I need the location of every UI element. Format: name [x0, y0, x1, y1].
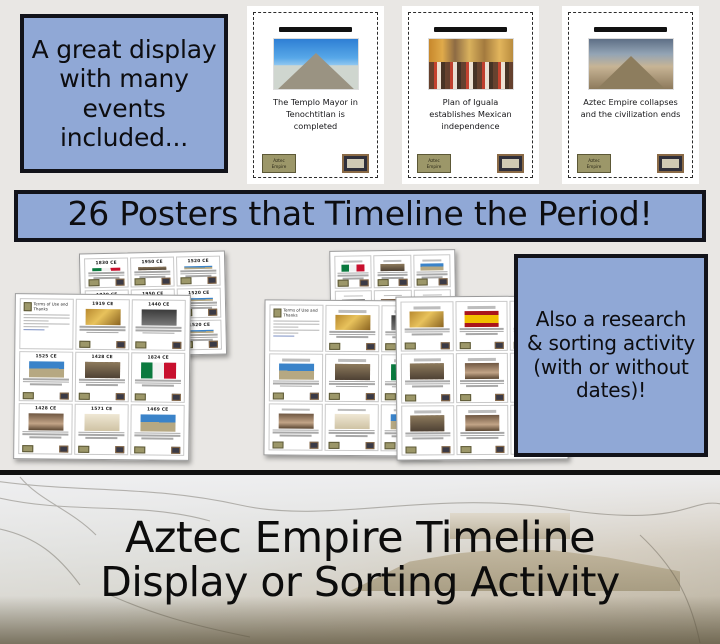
cell-image: [84, 414, 119, 431]
cell-footer: [180, 277, 217, 285]
cell-footer: [22, 445, 68, 452]
cell-image: [138, 267, 166, 271]
title-line-2: Display or Sorting Activity: [100, 562, 619, 603]
product-cover: A great display with many events include…: [0, 0, 720, 639]
cell-footer: [338, 279, 369, 286]
cell-caption-lines: [22, 431, 68, 438]
sheet-cell: 1520 CE: [176, 256, 221, 287]
cell-image: [85, 309, 120, 326]
cell-caption-lines: [459, 328, 504, 335]
sheet-cell: 1440 CE: [131, 299, 186, 350]
cell-caption-lines: [23, 378, 69, 385]
cell-date-blank: [338, 310, 366, 313]
date-redaction-bar: [434, 27, 507, 32]
sheet-cell: [401, 353, 454, 403]
cell-date-blank: [469, 410, 496, 413]
cell-image: [28, 414, 63, 431]
badge-line-2: Empire: [272, 164, 287, 169]
cell-image: [464, 311, 498, 327]
sheet-cell: [374, 255, 412, 288]
cell-footer: [78, 446, 124, 453]
cell-date: 1440 CE: [148, 302, 169, 308]
cell-caption-lines: [405, 432, 450, 439]
cell-footer: [88, 279, 125, 287]
cell-caption-lines: [78, 432, 124, 439]
cell-badge: [135, 394, 146, 401]
cell-badge: [417, 278, 428, 285]
sheet-cell: [325, 305, 379, 353]
poster-caption: The Templo Mayor in Tenochtitlan is comp…: [262, 97, 369, 133]
sheet-cell: 1525 CE: [19, 351, 74, 402]
tou-body: [23, 314, 69, 331]
terms-of-use-cell: Terms of Use and Thanks: [19, 298, 74, 349]
tou-title: Terms of Use and Thanks: [283, 309, 319, 318]
badge-line-2: Empire: [427, 164, 442, 169]
sheet-dated-front: Terms of Use and Thanks1919 CE1440 CE152…: [13, 293, 191, 461]
title-line-1: Aztec Empire Timeline: [125, 517, 595, 560]
cell-date: 1830 CE: [95, 261, 116, 267]
poster-caption: Aztec Empire collapses and the civilizat…: [577, 97, 684, 121]
cell-footer: [329, 392, 375, 399]
cell-footer: [460, 394, 505, 401]
cell-badge: [22, 445, 33, 452]
cell-footer: [460, 446, 505, 453]
cell-mini-thumb: [115, 446, 124, 453]
cell-caption-lines: [135, 327, 181, 334]
top-row: A great display with many events include…: [0, 0, 720, 186]
cell-date-blank: [413, 306, 440, 309]
cell-footer: [377, 278, 408, 285]
date-redaction-bar: [279, 27, 352, 32]
cell-footer: [405, 342, 450, 349]
sheet-cell: 1469 CE: [130, 405, 185, 456]
cell-badge: [385, 344, 396, 351]
cell-footer: [405, 446, 450, 453]
sheet-cell: [401, 405, 454, 455]
cell-date-blank: [344, 260, 363, 262]
cell-image: [141, 309, 176, 326]
cell-image: [411, 415, 445, 431]
cell-image: [28, 361, 63, 378]
sheet-cell: [268, 403, 322, 451]
sheet-cell: [400, 301, 453, 351]
cell-image: [84, 361, 119, 378]
cell-badge: [88, 279, 99, 286]
sheet-cell: 1428 CE: [18, 403, 73, 454]
sheet-cell: 1824 CE: [131, 352, 186, 403]
cell-mini-thumb: [116, 341, 125, 348]
cell-date: 1428 CE: [91, 355, 112, 361]
cell-badge: [460, 394, 471, 401]
cell-caption-lines: [405, 380, 450, 387]
cell-mini-thumb: [496, 446, 505, 453]
cell-date: 1950 CE: [141, 260, 162, 266]
cell-image: [420, 263, 443, 270]
poster-card-3: Aztec Empire collapses and the civilizat…: [562, 6, 699, 184]
cell-footer: [273, 441, 319, 448]
cell-image: [335, 315, 370, 330]
sheet-cell: [325, 354, 379, 402]
sheet-cell: 1830 CE: [84, 258, 129, 289]
aztec-empire-badge: Aztec Empire: [577, 154, 611, 173]
title-banner: Aztec Empire Timeline Display or Sorting…: [0, 470, 720, 644]
cell-mini-thumb: [441, 446, 450, 453]
cell-mini-thumb: [116, 393, 125, 400]
cell-mini-thumb: [440, 342, 449, 349]
tou-badge-icon: [24, 302, 32, 311]
cell-date-blank: [344, 295, 363, 297]
cell-badge: [385, 442, 396, 449]
cell-badge: [329, 343, 340, 350]
cell-date-blank: [282, 408, 310, 411]
cell-date: 1919 CE: [92, 302, 113, 308]
cell-mini-thumb: [209, 309, 218, 316]
poster-caption: Plan of Iguala establishes Mexican indep…: [417, 97, 524, 133]
cell-badge: [338, 279, 349, 286]
cell-caption-lines: [460, 432, 505, 439]
cell-caption-lines: [135, 379, 181, 386]
cell-date-blank: [338, 359, 366, 362]
cell-image: [92, 268, 120, 272]
cell-caption-lines: [134, 432, 180, 439]
cell-badge: [23, 392, 34, 399]
mini-thumbnail-icon: [342, 154, 369, 173]
callout-also-research: Also a research & sorting activity (with…: [514, 254, 708, 457]
cell-caption-lines: [329, 380, 375, 387]
cell-badge: [79, 393, 90, 400]
cell-caption-lines: [329, 430, 375, 437]
cell-image: [465, 415, 499, 431]
sheet-cell: [269, 354, 323, 402]
poster-image-parade: [428, 38, 514, 90]
cell-mini-thumb: [172, 394, 181, 401]
cell-footer: [79, 393, 125, 400]
cell-date-blank: [282, 359, 310, 362]
cell-mini-thumb: [116, 279, 125, 286]
cell-image: [140, 362, 175, 379]
cell-mini-thumb: [60, 393, 69, 400]
poster-footer: Aztec Empire: [577, 154, 684, 173]
cell-date-blank: [468, 306, 495, 309]
cell-date-blank: [422, 259, 441, 261]
cell-badge: [385, 393, 396, 400]
cell-date-blank: [383, 260, 402, 262]
cell-date-blank: [414, 410, 441, 413]
poster-card-1: The Templo Mayor in Tenochtitlan is comp…: [247, 6, 384, 184]
cell-badge: [273, 392, 284, 399]
cell-mini-thumb: [441, 394, 450, 401]
cell-mini-thumb: [172, 341, 181, 348]
cell-footer: [273, 392, 319, 399]
sheet-cell: [455, 301, 508, 351]
cell-date-blank: [414, 358, 441, 361]
cell-caption-lines: [273, 380, 319, 387]
aztec-empire-badge: Aztec Empire: [262, 154, 296, 173]
cell-caption-lines: [460, 380, 505, 387]
cell-badge: [405, 446, 416, 453]
date-redaction-bar: [594, 27, 667, 32]
cell-mini-thumb: [310, 442, 319, 449]
cell-footer: [134, 446, 180, 453]
cell-mini-thumb: [399, 278, 408, 285]
sheet-cell: [413, 254, 451, 287]
cell-date: 1571 CE: [91, 407, 112, 413]
cell-image: [278, 364, 313, 379]
cell-footer: [135, 394, 181, 401]
cell-mini-thumb: [162, 278, 171, 285]
tou-body: [273, 320, 319, 337]
cell-date-blank: [468, 358, 495, 361]
cell-mini-thumb: [310, 392, 319, 399]
cell-footer: [134, 278, 171, 286]
callout-great-display: A great display with many events include…: [20, 14, 228, 173]
sheet-cell: [324, 403, 378, 451]
tou-title: Terms of Use and Thanks: [33, 302, 69, 311]
cell-date: 1428 CE: [35, 407, 56, 413]
cell-caption-lines: [79, 379, 125, 386]
cell-image: [465, 363, 499, 379]
poster-footer: Aztec Empire: [417, 154, 524, 173]
cell-date: 1520 CE: [188, 291, 209, 297]
cell-footer: [135, 341, 181, 348]
cell-badge: [135, 341, 146, 348]
cell-image: [410, 363, 444, 379]
cell-footer: [329, 343, 375, 350]
cell-date: 1520 CE: [187, 259, 208, 265]
cell-badge: [377, 279, 388, 286]
cell-date-blank: [338, 409, 366, 412]
cell-badge: [180, 277, 191, 284]
cell-badge: [329, 442, 340, 449]
cell-mini-thumb: [366, 442, 375, 449]
cell-mini-thumb: [171, 447, 180, 454]
cell-footer: [79, 340, 125, 347]
sheet-cell: 1428 CE: [75, 351, 130, 402]
cell-badge: [134, 278, 145, 285]
cell-badge: [273, 441, 284, 448]
sheet-preview-area: 1830 CE1950 CE1520 CE1830 CE1950 CE1520 …: [0, 246, 720, 468]
cell-image: [334, 364, 369, 379]
sheet-cell: 1950 CE: [130, 257, 175, 288]
cell-badge: [79, 340, 90, 347]
poster-count-banner: 26 Posters that Timeline the Period!: [14, 190, 706, 242]
cell-mini-thumb: [438, 278, 447, 285]
cell-footer: [417, 278, 448, 285]
cell-badge: [460, 446, 471, 453]
mini-thumbnail-icon: [657, 154, 684, 173]
cell-image: [140, 415, 175, 432]
cell-image: [278, 413, 313, 428]
sheet-cell: 1919 CE: [75, 299, 130, 350]
cell-badge: [78, 446, 89, 453]
poster-image-temple: [273, 38, 359, 90]
tou-header: Terms of Use and Thanks: [273, 308, 319, 317]
cell-footer: [405, 394, 450, 401]
mini-thumbnail-icon: [497, 154, 524, 173]
cell-footer: [329, 442, 375, 449]
cell-caption-lines: [329, 331, 375, 338]
cell-date: 1525 CE: [35, 354, 56, 360]
poster-card-2: Plan of Iguala establishes Mexican indep…: [402, 6, 539, 184]
cell-badge: [405, 394, 416, 401]
cell-badge: [405, 342, 416, 349]
cell-footer: [459, 342, 504, 349]
cell-caption-lines: [405, 328, 450, 335]
cell-badge: [134, 446, 145, 453]
sheet-cell: [334, 255, 372, 288]
cell-caption-lines: [273, 429, 319, 436]
cell-mini-thumb: [208, 277, 217, 284]
tou-header: Terms of Use and Thanks: [24, 302, 70, 311]
cell-image: [381, 264, 404, 271]
cell-footer: [23, 392, 69, 399]
sheet-cell: [455, 353, 508, 403]
cell-caption-lines: [79, 326, 125, 333]
sheet-cell: [456, 405, 509, 455]
cell-badge: [459, 342, 470, 349]
cell-mini-thumb: [495, 342, 504, 349]
cell-image: [410, 311, 444, 327]
cell-mini-thumb: [366, 343, 375, 350]
cell-date: 1520 CE: [189, 323, 210, 329]
badge-line-2: Empire: [587, 164, 602, 169]
aztec-empire-badge: Aztec Empire: [417, 154, 451, 173]
cell-badge: [329, 392, 340, 399]
cell-mini-thumb: [360, 279, 369, 286]
poster-footer: Aztec Empire: [262, 154, 369, 173]
sheet-cell: 1571 CE: [74, 404, 129, 455]
poster-image-ruins: [588, 38, 674, 90]
cell-mini-thumb: [495, 394, 504, 401]
tou-badge-icon: [273, 308, 281, 317]
cell-mini-thumb: [209, 341, 218, 348]
cell-image: [184, 266, 212, 270]
cell-date: 1824 CE: [147, 355, 168, 361]
terms-of-use-cell: Terms of Use and Thanks: [269, 304, 323, 352]
cell-image: [341, 265, 364, 272]
cell-mini-thumb: [366, 393, 375, 400]
cell-mini-thumb: [59, 446, 68, 453]
cell-date: 1469 CE: [147, 408, 168, 414]
cell-image: [334, 414, 369, 429]
